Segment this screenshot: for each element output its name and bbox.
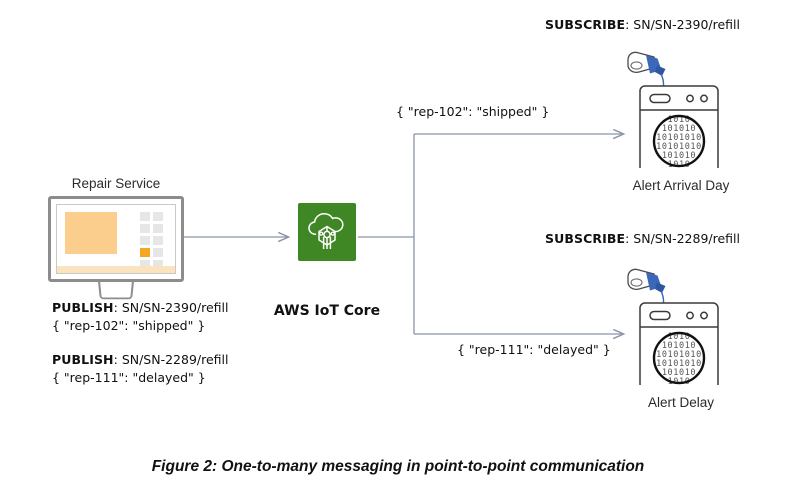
desktop-monitor-icon [48,196,184,288]
screen-tile [140,236,150,245]
detergent-bottle-icon [628,269,666,293]
screen-status-bar [57,266,175,273]
subscribe-topic-value: SN/SN-2289/refill [633,231,740,246]
monitor-stand [98,282,134,300]
screen-content-block [65,212,117,254]
machine-drum-binary-2: 1010 101010 10101010 10101010 101010 101… [654,332,704,385]
subscriber-2-node-label: Alert Delay [606,395,756,410]
machine-drum-binary-1: 1010 101010 10101010 10101010 101010 101… [654,115,704,168]
monitor-bezel [48,196,184,282]
publish-topic-value: SN/SN-2289/refill [122,352,229,367]
monitor-screen [56,204,176,274]
subscriber-1-node-label: Alert Arrival Day [606,178,756,193]
figure-caption: Figure 2: One-to-many messaging in point… [0,458,796,476]
subscribe-action-label: SUBSCRIBE [545,17,625,32]
publish-separator: : [114,352,122,367]
diagram-canvas: Repair Service [0,0,796,496]
screen-tile [153,236,163,245]
detergent-bottle-icon [628,52,666,76]
subscriber-2-message-payload: { "rep-111": "delayed" } [457,342,611,357]
subscribe-action-label: SUBSCRIBE [545,231,625,246]
publish-message-1-payload: { "rep-102": "shipped" } [52,318,205,333]
publish-message-2-payload: { "rep-111": "delayed" } [52,370,206,385]
publish-topic-value: SN/SN-2390/refill [122,300,229,315]
publish-message-2-topic: PUBLISH: SN/SN-2289/refill [52,352,229,367]
broker-title: AWS IoT Core [266,303,388,319]
publish-action-label: PUBLISH [52,300,114,315]
screen-tile-grid [140,212,166,269]
washing-machine-icon-1: 1010 101010 10101010 10101010 101010 101… [624,48,710,152]
washing-machine-icon-2: 1010 101010 10101010 10101010 101010 101… [624,265,710,369]
publish-separator: : [114,300,122,315]
subscriber-2-subscribe-line: SUBSCRIBE: SN/SN-2289/refill [545,231,740,246]
screen-tile [153,224,163,233]
screen-tile [153,248,163,257]
subscriber-1-subscribe-line: SUBSCRIBE: SN/SN-2390/refill [545,17,740,32]
publisher-node-label: Repair Service [48,176,184,191]
screen-tile-active [140,248,150,257]
screen-tile [140,224,150,233]
publish-action-label: PUBLISH [52,352,114,367]
screen-tile [153,212,163,221]
aws-iot-core-cloud-icon [298,203,356,261]
publish-message-1-topic: PUBLISH: SN/SN-2390/refill [52,300,229,315]
subscribe-topic-value: SN/SN-2390/refill [633,17,740,32]
subscriber-1-message-payload: { "rep-102": "shipped" } [396,104,549,119]
screen-tile [140,212,150,221]
